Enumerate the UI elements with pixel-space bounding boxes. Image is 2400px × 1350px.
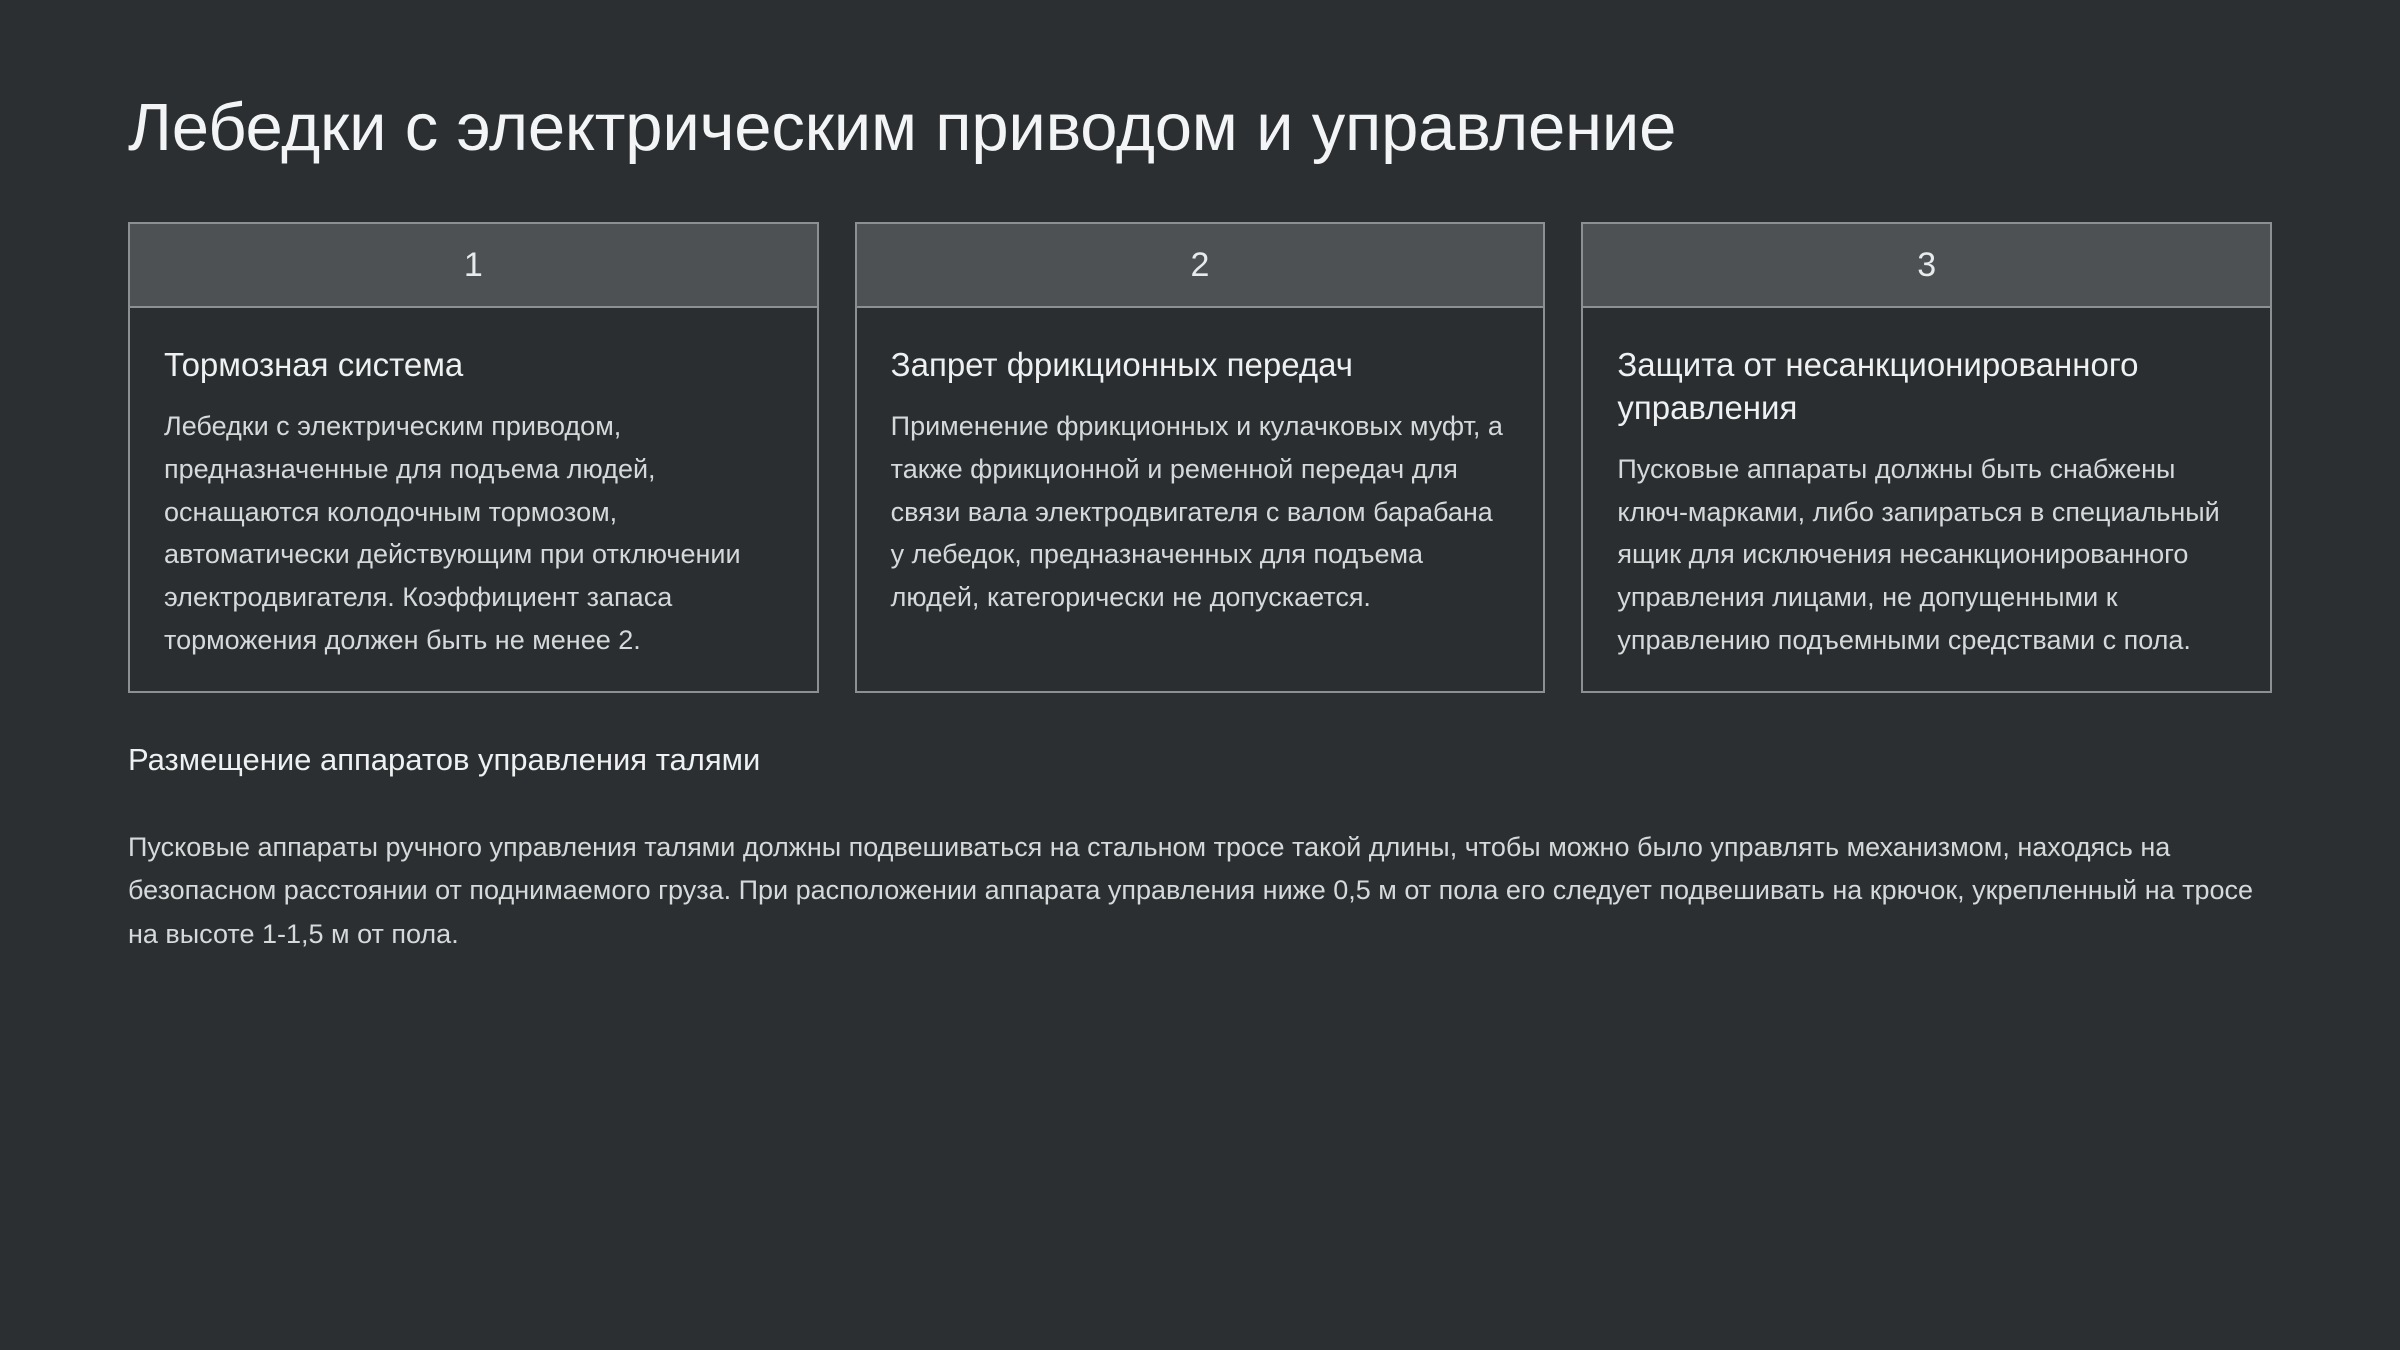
card-1-text: Лебедки с электрическим приводом, предна… xyxy=(164,405,783,661)
card-3-header: 3 xyxy=(1583,224,2270,308)
card-2-body: Запрет фрикционных передач Применение фр… xyxy=(857,308,1544,691)
placement-section-title: Размещение аппаратов управления талями xyxy=(128,741,2272,778)
placement-section-text: Пусковые аппараты ручного управления тал… xyxy=(128,826,2272,957)
slide-root: Лебедки с электрическим приводом и управ… xyxy=(0,0,2400,1350)
placement-section: Размещение аппаратов управления талями П… xyxy=(128,741,2272,956)
page-title: Лебедки с электрическим приводом и управ… xyxy=(128,0,2272,164)
card-2-title: Запрет фрикционных передач xyxy=(891,344,1510,387)
cards-row: 1 Тормозная система Лебедки с электричес… xyxy=(128,222,2272,693)
card-1: 1 Тормозная система Лебедки с электричес… xyxy=(128,222,819,693)
card-1-header: 1 xyxy=(130,224,817,308)
card-1-title: Тормозная система xyxy=(164,344,783,387)
card-3: 3 Защита от несанкционированного управле… xyxy=(1581,222,2272,693)
card-1-body: Тормозная система Лебедки с электрически… xyxy=(130,308,817,691)
card-3-number: 3 xyxy=(1917,248,1936,282)
card-2-number: 2 xyxy=(1191,248,1210,282)
card-2: 2 Запрет фрикционных передач Применение … xyxy=(855,222,1546,693)
card-3-title: Защита от несанкционированного управлени… xyxy=(1617,344,2236,430)
card-2-text: Применение фрикционных и кулачковых муфт… xyxy=(891,405,1510,618)
card-2-header: 2 xyxy=(857,224,1544,308)
card-3-text: Пусковые аппараты должны быть снабжены к… xyxy=(1617,448,2236,661)
card-1-number: 1 xyxy=(464,248,483,282)
card-3-body: Защита от несанкционированного управлени… xyxy=(1583,308,2270,691)
